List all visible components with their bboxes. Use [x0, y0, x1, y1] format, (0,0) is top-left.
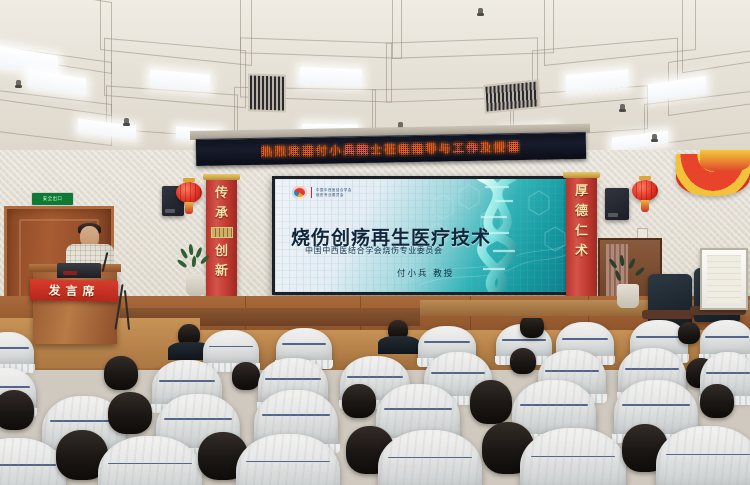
- scroll-left-char-2: 创: [215, 245, 228, 258]
- attendee-head: [700, 384, 734, 418]
- air-vent: [483, 79, 540, 114]
- attendee-head: [104, 356, 138, 390]
- scroll-left-char-1: 承: [215, 207, 228, 220]
- ceiling-light: [612, 131, 668, 151]
- ceiling-light: [300, 67, 362, 86]
- festive-ribbon-decor-2: [700, 150, 750, 172]
- scroll-right-char-2: 仁: [575, 225, 588, 238]
- sprinkler-head: [478, 8, 483, 15]
- scroll-right-char-1: 德: [575, 205, 588, 218]
- projection-screen: 中国中西医结合学会 烧伤专业委员会 烧伤创疡再生医疗技术 中国中西医结合学会烧伤…: [275, 179, 571, 292]
- wall-poster-board: [700, 248, 748, 310]
- attendee-shoulders: [378, 336, 420, 354]
- sprinkler-head: [16, 80, 21, 87]
- attendee-head: [470, 380, 512, 424]
- organization-logo: 中国中西医结合学会 烧伤专业委员会: [292, 186, 352, 199]
- attendee-head: [678, 322, 700, 344]
- attendee-head: [520, 318, 544, 338]
- conference-hall-photo: 热烈欢迎付小兵院士莅临指导与工作及授课: [0, 0, 750, 485]
- attendee-head: [232, 362, 260, 390]
- emergency-exit-sign: 安全出口: [31, 192, 74, 206]
- scroll-left-char-3: 新: [215, 265, 228, 278]
- attendee-head: [108, 392, 152, 434]
- sprinkler-head: [620, 104, 625, 111]
- slide-presenter: 付小兵 教授: [397, 267, 454, 279]
- audience-seating: [0, 318, 750, 485]
- led-banner-text: 热烈欢迎付小兵院士莅临指导与工作及授课: [261, 139, 522, 160]
- sprinkler-head: [124, 118, 129, 125]
- potted-plant-left: [178, 246, 212, 298]
- attendee-head: [342, 384, 376, 418]
- air-vent: [248, 73, 286, 112]
- scroll-left-char-0: 传: [215, 187, 228, 200]
- logo-text-line1: 中国中西医结合学会: [316, 188, 352, 192]
- seat: [0, 332, 34, 368]
- scroll-right-char-0: 厚: [575, 185, 588, 198]
- scroll-right-char-3: 术: [575, 245, 588, 258]
- seat: [520, 428, 626, 485]
- logo-emblem-icon: [292, 186, 307, 199]
- sprinkler-head: [652, 134, 657, 141]
- attendee-head: [0, 390, 34, 430]
- red-lantern-left: [176, 182, 202, 203]
- attendee-head-glasses: [510, 348, 536, 374]
- slide-subtitle: 中国中西医结合学会烧伤专业委员会: [305, 245, 443, 256]
- wall-scroll-right: 厚 德 仁 术: [566, 178, 597, 301]
- scroll-seal: [211, 227, 233, 238]
- seat: [378, 430, 482, 485]
- seat: [203, 330, 259, 367]
- lectern-sign-text: 发言席: [48, 281, 99, 299]
- lectern-sign: 发言席: [30, 279, 118, 302]
- logo-text-line2: 烧伤专业委员会: [316, 193, 352, 197]
- red-lantern-right: [632, 180, 658, 201]
- exit-sign-text: 安全出口: [43, 196, 63, 202]
- projection-screen-frame: 中国中西医结合学会 烧伤专业委员会 烧伤创疡再生医疗技术 中国中西医结合学会烧伤…: [272, 176, 574, 295]
- wall-speaker-right: [605, 188, 629, 220]
- potted-plant-right: [608, 258, 648, 308]
- laptop-on-lectern[interactable]: [57, 263, 101, 278]
